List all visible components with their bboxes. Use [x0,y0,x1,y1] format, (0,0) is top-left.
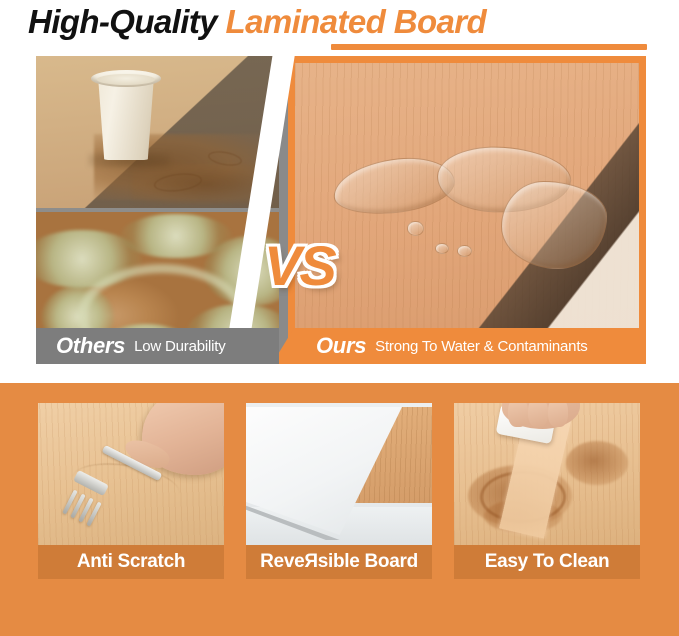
feature-card-easy-clean: Easy To Clean [454,403,640,579]
laminated-board-infographic: High-Quality Laminated Board [0,0,679,636]
feature-photo-anti-scratch [38,403,224,545]
others-caption-bar: Others Low Durability [36,328,279,364]
ours-column [288,56,646,364]
features-section: Anti Scratch ReveЯsible Board [0,383,679,636]
feature-label-easy-clean: Easy To Clean [454,545,640,579]
finger [528,403,548,427]
water-droplet [457,245,472,257]
ours-caption: Strong To Water & Contaminants [375,338,587,355]
others-column [36,56,279,364]
others-label: Others [56,333,125,359]
title-part-primary: High-Quality [28,3,217,40]
feature-card-anti-scratch: Anti Scratch [38,403,224,579]
feature-label-text: ReveЯsible Board [260,551,418,573]
ours-caption-bar: Ours Strong To Water & Contaminants [272,328,646,364]
feature-label-text: Anti Scratch [77,551,185,573]
ours-label: Ours [316,333,366,359]
feature-label-text: Easy To Clean [485,551,610,573]
stain-patch [566,441,628,485]
title-part-accent [217,3,226,40]
others-caption: Low Durability [134,338,225,355]
title-underline [331,44,647,50]
feature-label-anti-scratch: Anti Scratch [38,545,224,579]
title-block: High-Quality Laminated Board [0,0,679,52]
feature-photo-reversible [246,403,432,545]
water-blob [501,181,607,269]
vs-badge: VS [264,238,335,294]
finger [548,403,568,427]
cup-rim-inner [97,74,155,85]
water-droplet [435,243,449,254]
ours-board-photo [295,63,639,357]
comparison-section: VS Ours Strong To Water & Contaminants O… [36,56,646,364]
water-droplet [407,221,424,236]
others-spill-photo [36,56,279,208]
title-part-accent-text: Laminated Board [226,3,487,40]
feature-label-reversible: ReveЯsible Board [246,545,432,579]
feature-card-reversible: ReveЯsible Board [246,403,432,579]
finger [508,403,528,427]
feature-photo-easy-clean [454,403,640,545]
page-title: High-Quality Laminated Board [28,2,486,42]
